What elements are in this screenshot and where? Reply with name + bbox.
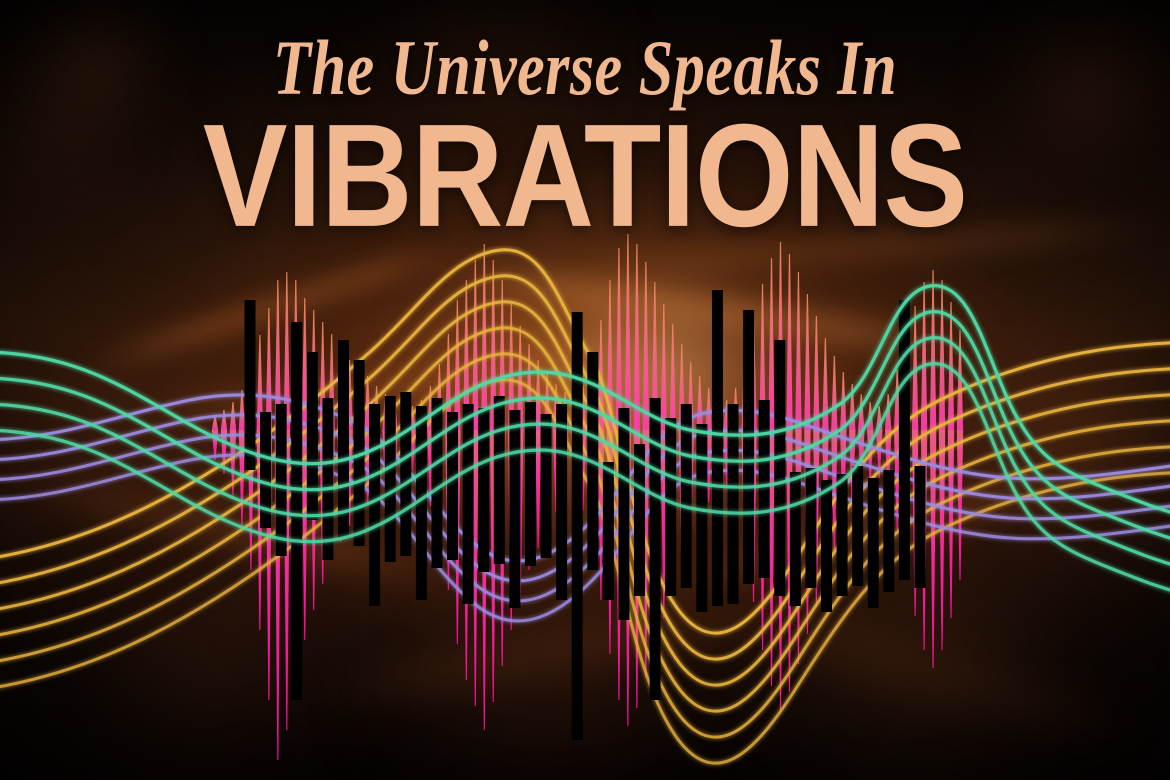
amplitude-bar xyxy=(868,478,879,608)
spectrum-spike-up xyxy=(616,248,622,430)
amplitude-bar xyxy=(463,404,474,604)
spectrum-spike-up xyxy=(696,376,702,430)
headline-main: VIBRATIONS xyxy=(47,112,1123,239)
title-block: The Universe Speaks In VIBRATIONS xyxy=(0,26,1170,236)
amplitude-bar xyxy=(665,418,676,596)
spectrum-spike-up xyxy=(266,308,272,430)
spectrum-spike-up xyxy=(822,338,828,430)
amplitude-bar xyxy=(790,472,801,606)
amplitude-bar xyxy=(915,466,926,588)
amplitude-bar xyxy=(291,322,302,700)
amplitude-bar xyxy=(821,480,832,612)
amplitude-bar xyxy=(322,398,333,560)
amplitude-bar xyxy=(712,290,723,606)
amplitude-bar xyxy=(743,310,754,584)
spectrum-spike-down xyxy=(831,430,837,552)
amplitude-bar xyxy=(774,340,785,596)
spectrum-spike-up xyxy=(813,316,819,430)
spectrum-spike-up xyxy=(786,254,792,430)
spectrum-spike-up xyxy=(221,410,227,430)
amplitude-bar xyxy=(556,404,567,600)
amplitude-bar xyxy=(307,352,318,520)
promo-graphic-canvas: The Universe Speaks In VIBRATIONS xyxy=(0,0,1170,780)
spectrum-spike-up xyxy=(804,294,810,430)
amplitude-bar xyxy=(478,408,489,572)
amplitude-bar xyxy=(805,468,816,588)
amplitude-bar xyxy=(634,444,645,596)
spectrum-spike-up xyxy=(661,304,667,430)
spectrum-spike-up xyxy=(643,262,649,430)
amplitude-bar xyxy=(837,474,848,596)
spectrum-spike-up xyxy=(670,324,676,430)
amplitude-bar xyxy=(603,462,614,600)
amplitude-bar xyxy=(525,402,536,566)
spectrum-spike-up xyxy=(831,356,837,430)
amplitude-bar xyxy=(883,470,894,592)
amplitude-bar xyxy=(431,398,442,568)
amplitude-bar xyxy=(369,404,380,606)
amplitude-bar xyxy=(245,300,256,470)
amplitude-bar xyxy=(899,300,910,580)
spectrum-spike-up xyxy=(795,272,801,430)
spectrum-spike-down xyxy=(957,430,963,580)
spectrum-spike-down xyxy=(939,430,945,650)
amplitude-bar xyxy=(541,414,552,558)
amplitude-bar xyxy=(852,466,863,586)
amplitude-bar xyxy=(338,340,349,538)
amplitude-bar xyxy=(759,400,770,578)
amplitude-bar xyxy=(618,408,629,620)
amplitude-bar xyxy=(509,410,520,608)
spectrum-spike-up xyxy=(705,388,711,430)
amplitude-bar xyxy=(276,404,287,556)
amplitude-bar xyxy=(385,396,396,562)
spectrum-spike-up xyxy=(212,416,218,430)
spectrum-spike-up xyxy=(481,244,487,430)
spectrum-spike-up xyxy=(634,244,640,430)
amplitude-bar xyxy=(447,412,458,560)
amplitude-bar xyxy=(400,392,411,556)
amplitude-bars-group xyxy=(245,290,926,740)
amplitude-bar xyxy=(494,396,505,564)
yellow-wave-group xyxy=(0,250,1170,763)
spectrum-spike-up xyxy=(939,280,945,430)
amplitude-bar xyxy=(696,424,707,612)
